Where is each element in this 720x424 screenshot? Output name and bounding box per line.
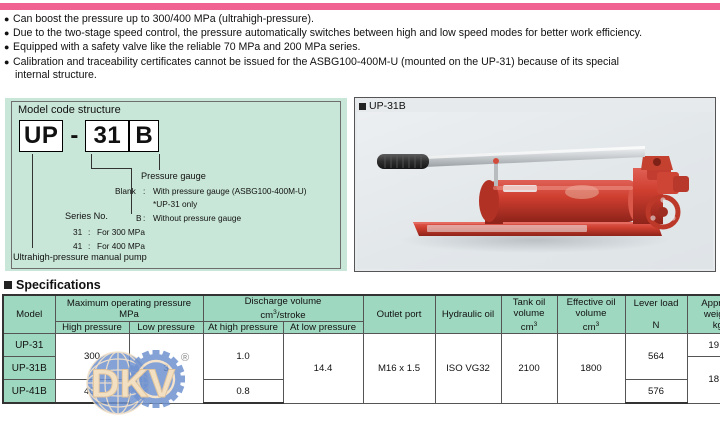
table-header-row-1: Model Maximum operating pressure MPa Dis… bbox=[3, 295, 720, 322]
specifications-table: Model Maximum operating pressure MPa Dis… bbox=[2, 294, 720, 404]
pressure-gauge-heading: Pressure gauge bbox=[141, 171, 206, 181]
product-image-panel: UP-31B bbox=[354, 97, 716, 272]
series-option-desc: For 400 MPa bbox=[97, 241, 145, 251]
code-box-series: 31 bbox=[85, 120, 129, 152]
hydraulic-pump-illustration bbox=[357, 112, 713, 269]
col-header-high-pressure: High pressure bbox=[55, 322, 129, 334]
code-separator: - bbox=[63, 122, 85, 150]
square-bullet-icon bbox=[359, 103, 366, 110]
max-pressure-title: Maximum operating pressure bbox=[67, 298, 191, 309]
hydraulic-oil-label: Hydraulic oil bbox=[442, 309, 494, 320]
top-accent-rule bbox=[0, 3, 720, 10]
list-item: ● Calibration and traceability certifica… bbox=[4, 56, 716, 82]
discharge-unit-base: cm bbox=[260, 310, 273, 321]
tank-oil-unit-base: cm bbox=[521, 322, 534, 333]
col-header-model: Model bbox=[3, 295, 55, 334]
cell-hydraulic-oil: ISO VG32 bbox=[435, 334, 501, 404]
cell-tank-oil: 2100 bbox=[501, 334, 557, 404]
effective-oil-unit-sup: 3 bbox=[596, 321, 600, 328]
cell-lever-load: 576 bbox=[625, 380, 687, 404]
discharge-title: Discharge volume bbox=[245, 296, 322, 307]
discharge-unit-tail: /stroke bbox=[277, 310, 306, 321]
list-item: ● Due to the two-stage speed control, th… bbox=[4, 27, 716, 40]
specifications-heading: Specifications bbox=[4, 278, 101, 292]
lever-load-l1: Lever load bbox=[634, 298, 679, 309]
cell-model: UP-31B bbox=[3, 357, 55, 380]
feature-text: Due to the two-stage speed control, the … bbox=[13, 27, 716, 40]
feature-text-line2: internal structure. bbox=[13, 69, 716, 82]
series-option-desc: For 300 MPa bbox=[97, 227, 145, 237]
leader-line-series-b bbox=[91, 168, 131, 169]
pressure-gauge-b-colon: : bbox=[143, 213, 145, 223]
effective-oil-l2: volume bbox=[576, 308, 607, 319]
effective-oil-unit-base: cm bbox=[583, 322, 596, 333]
lever-load-unit: N bbox=[653, 320, 660, 331]
col-header-lever-load: Lever load N bbox=[625, 295, 687, 334]
model-code-title: Model code structure bbox=[18, 104, 121, 116]
pressure-gauge-blank-note: *UP-31 only bbox=[153, 199, 197, 209]
cell-low-pressure: 3 bbox=[129, 334, 203, 404]
list-item: ● Can boost the pressure up to 300/400 M… bbox=[4, 13, 716, 26]
col-header-at-low-pressure: At low pressure bbox=[283, 322, 363, 334]
product-photo bbox=[357, 112, 713, 269]
square-bullet-icon bbox=[4, 281, 12, 289]
col-header-effective-oil: Effective oil volume cm3 bbox=[557, 295, 625, 334]
weight-unit: kg bbox=[713, 320, 720, 331]
max-pressure-unit: MPa bbox=[119, 309, 139, 320]
bullet-icon: ● bbox=[4, 13, 13, 26]
code-box-gauge: B bbox=[129, 120, 159, 152]
leader-line-gauge bbox=[159, 154, 160, 170]
series-option-colon: : bbox=[88, 241, 90, 251]
cell-at-low-pressure: 14.4 bbox=[283, 334, 363, 404]
pressure-gauge-blank-key: Blank bbox=[115, 186, 136, 196]
cell-high-pressure: 300 bbox=[55, 334, 129, 380]
tank-oil-l1: Tank oil bbox=[513, 297, 546, 308]
pressure-gauge-blank-colon: : bbox=[143, 186, 145, 196]
series-option-key: 41 bbox=[73, 241, 82, 251]
leader-line-prefix bbox=[32, 154, 33, 248]
feature-list: ● Can boost the pressure up to 300/400 M… bbox=[4, 13, 716, 83]
product-image-caption: UP-31B bbox=[359, 100, 406, 112]
effective-oil-l1: Effective oil bbox=[567, 297, 616, 308]
col-header-discharge: Discharge volume cm3/stroke bbox=[203, 295, 363, 322]
series-heading: Series No. bbox=[65, 211, 108, 221]
pressure-gauge-b-desc: Without pressure gauge bbox=[153, 213, 241, 223]
cell-model: UP-31 bbox=[3, 334, 55, 357]
cell-lever-load: 564 bbox=[625, 334, 687, 380]
bullet-icon: ● bbox=[4, 41, 13, 54]
pressure-gauge-b-key: B bbox=[136, 213, 142, 223]
cell-outlet-port: M16 x 1.5 bbox=[363, 334, 435, 404]
cell-at-high-pressure: 1.0 bbox=[203, 334, 283, 380]
weight-l2: weight bbox=[704, 309, 720, 320]
list-item: ● Equipped with a safety valve like the … bbox=[4, 41, 716, 54]
product-image-caption-text: UP-31B bbox=[369, 100, 406, 112]
code-box-prefix: UP bbox=[19, 120, 63, 152]
specifications-heading-text: Specifications bbox=[16, 278, 101, 292]
product-type-label: Ultrahigh-pressure manual pump bbox=[13, 252, 147, 262]
model-code-structure-panel: Model code structure UP - 31 B Pressure … bbox=[4, 97, 348, 272]
feature-text: Calibration and traceability certificate… bbox=[13, 56, 716, 82]
cell-at-high-pressure: 0.8 bbox=[203, 380, 283, 404]
cell-effective-oil: 1800 bbox=[557, 334, 625, 404]
bullet-icon: ● bbox=[4, 56, 13, 69]
feature-text: Equipped with a safety valve like the re… bbox=[13, 41, 716, 54]
leader-line-series-a bbox=[91, 154, 92, 168]
col-header-max-pressure: Maximum operating pressure MPa bbox=[55, 295, 203, 322]
tank-oil-l2: volume bbox=[514, 308, 545, 319]
tank-oil-unit-sup: 3 bbox=[534, 321, 538, 328]
pressure-gauge-blank-desc: With pressure gauge (ASBG100-400M-U) bbox=[153, 186, 307, 196]
cell-model: UP-41B bbox=[3, 380, 55, 404]
series-option-key: 31 bbox=[73, 227, 82, 237]
series-option-colon: : bbox=[88, 227, 90, 237]
cell-high-pressure: 400 bbox=[55, 380, 129, 404]
cell-weight: 18.6 bbox=[687, 357, 720, 404]
weight-l1: Approx. bbox=[701, 298, 720, 309]
model-code-boxes: UP - 31 B bbox=[19, 120, 159, 152]
col-header-outlet-port: Outlet port bbox=[363, 295, 435, 334]
col-header-hydraulic-oil: Hydraulic oil bbox=[435, 295, 501, 334]
feature-text: Can boost the pressure up to 300/400 MPa… bbox=[13, 13, 716, 26]
bullet-icon: ● bbox=[4, 27, 13, 40]
col-header-at-high-pressure: At high pressure bbox=[203, 322, 283, 334]
cell-weight: 19.3 bbox=[687, 334, 720, 357]
feature-text-line1: Calibration and traceability certificate… bbox=[13, 56, 619, 68]
col-header-weight: Approx. weight kg bbox=[687, 295, 720, 334]
table-row: UP-31 300 3 1.0 14.4 M16 x 1.5 ISO VG32 … bbox=[3, 334, 720, 357]
col-header-low-pressure: Low pressure bbox=[129, 322, 203, 334]
col-header-tank-oil: Tank oil volume cm3 bbox=[501, 295, 557, 334]
